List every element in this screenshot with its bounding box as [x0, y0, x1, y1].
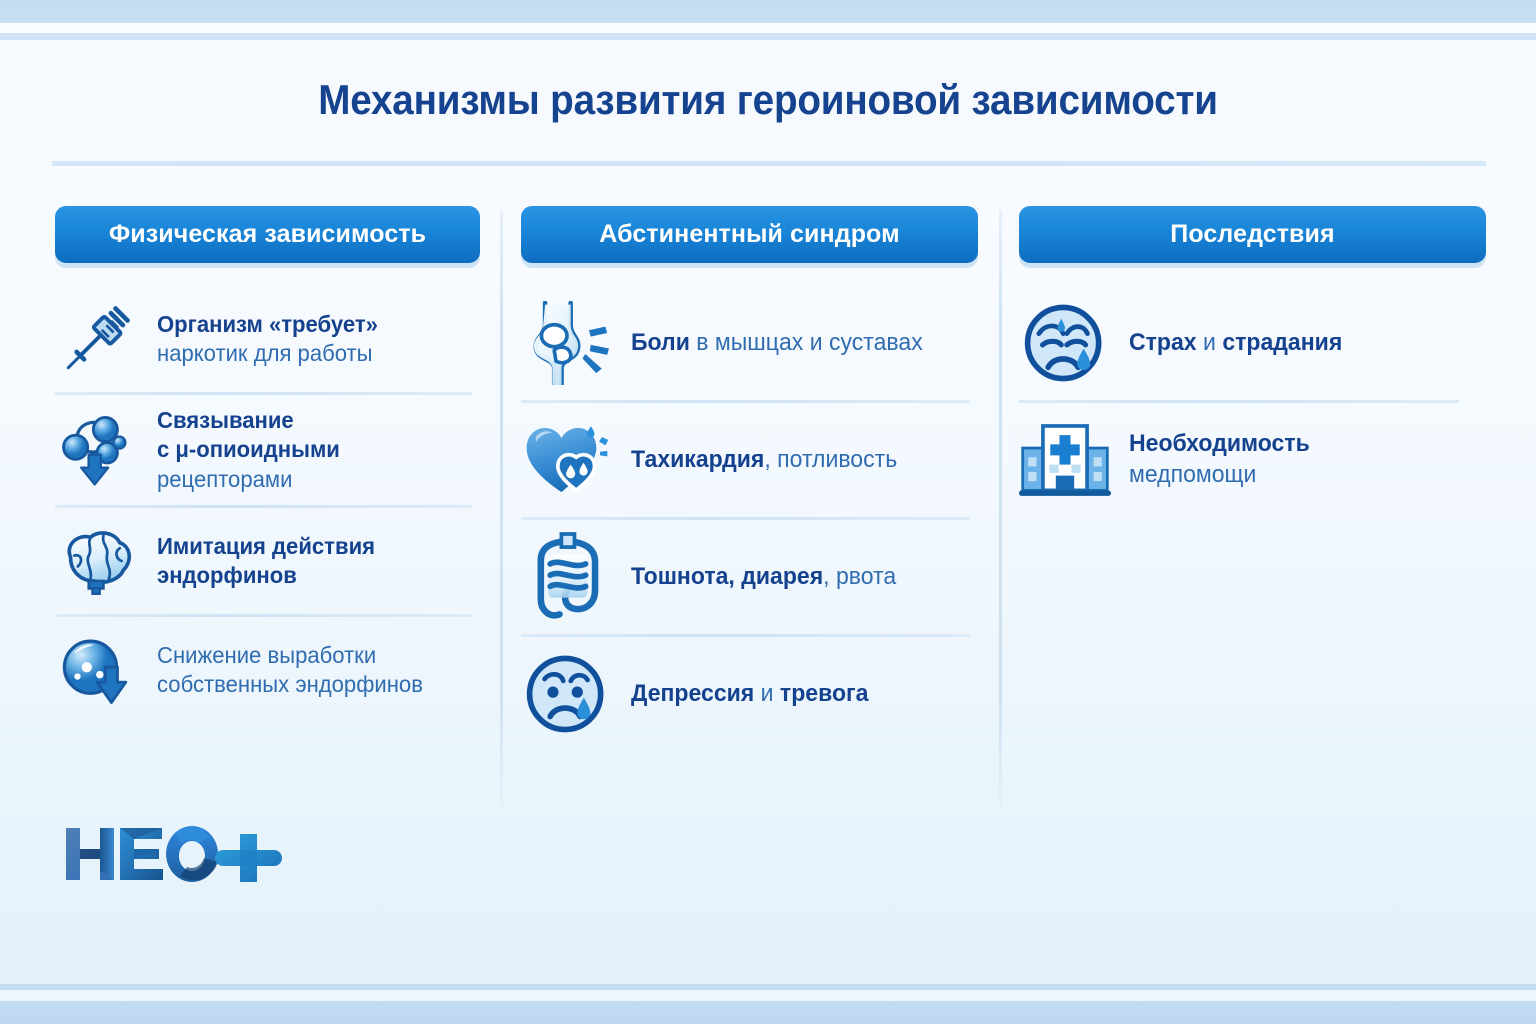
column-header-consequences[interactable]: Последствия: [1019, 206, 1486, 263]
title-divider-rule: [52, 161, 1486, 166]
column-items-consequences: Страх и страдания Необходимостьмедпомощи: [1019, 286, 1486, 517]
list-item-label: Необходимостьмедпомощи: [1129, 429, 1310, 490]
worried-face-tear-icon: [1019, 297, 1111, 389]
list-item-label: Тошнота, диарея, рвота: [631, 562, 896, 593]
list-item[interactable]: Страх и страдания: [1019, 286, 1486, 400]
list-item[interactable]: Снижение выработкисобственных эндорфинов: [55, 617, 480, 723]
syringe-icon: [55, 297, 139, 381]
list-item-label: Снижение выработкисобственных эндорфинов: [157, 641, 423, 700]
column-withdrawal-syndrome: Абстинентный синдром Боли в мышцах и сус…: [521, 206, 978, 751]
top-band-gap: [0, 23, 1536, 33]
top-accent-line: [0, 33, 1536, 40]
list-item[interactable]: Связываниес μ-опиоиднымирецепторами: [55, 395, 480, 505]
list-item-label: Боли в мышцах и суставах: [631, 328, 923, 359]
list-item[interactable]: Депрессия и тревога: [521, 637, 978, 751]
endorphin-decrease-icon: [55, 628, 139, 712]
intestines-icon: [521, 531, 613, 623]
list-item-label: Депрессия и тревога: [631, 679, 868, 710]
bottom-decorative-band: [0, 1001, 1536, 1024]
list-item[interactable]: Необходимостьмедпомощи: [1019, 403, 1486, 517]
column-physical-dependence: Физическая зависимость Организм «требует…: [55, 206, 480, 723]
list-item-label: Имитация действияэндорфинов: [157, 532, 375, 591]
list-item-label: Организм «требует»наркотик для работы: [157, 310, 378, 369]
bottom-band-gap: [0, 990, 1536, 1001]
heart-sweat-icon: [521, 414, 613, 506]
neo-plus-logo-icon: [62, 822, 292, 892]
brain-icon: [55, 519, 139, 603]
column-items-physical-dependence: Организм «требует»наркотик для работы Св…: [55, 286, 480, 723]
list-item-label: Страх и страдания: [1129, 328, 1342, 359]
column-items-withdrawal-syndrome: Боли в мышцах и суставах Тахикардия, пот…: [521, 286, 978, 751]
list-item[interactable]: Организм «требует»наркотик для работы: [55, 286, 480, 392]
brand-logo[interactable]: [62, 822, 292, 892]
page-title: Механизмы развития героиновой зависимост…: [61, 76, 1474, 124]
list-item[interactable]: Тошнота, диарея, рвота: [521, 520, 978, 634]
list-item[interactable]: Боли в мышцах и суставах: [521, 286, 978, 400]
list-item-label: Тахикардия, потливость: [631, 445, 897, 476]
column-divider-2: [999, 210, 1002, 806]
list-item[interactable]: Тахикардия, потливость: [521, 403, 978, 517]
columns-container: Физическая зависимость Организм «требует…: [0, 206, 1536, 826]
hospital-icon: [1019, 414, 1111, 506]
column-divider-1: [500, 210, 503, 806]
knee-joint-pain-icon: [521, 297, 613, 389]
sad-face-tear-icon: [521, 648, 613, 740]
list-item[interactable]: Имитация действияэндорфинов: [55, 508, 480, 614]
column-consequences: Последствия Страх и страдания Необходимо…: [1019, 206, 1486, 517]
list-item-label: Связываниес μ-опиоиднымирецепторами: [157, 406, 340, 494]
column-header-physical-dependence[interactable]: Физическая зависимость: [55, 206, 480, 263]
top-decorative-band: [0, 0, 1536, 23]
column-header-withdrawal-syndrome[interactable]: Абстинентный синдром: [521, 206, 978, 263]
molecule-receptor-icon: [55, 408, 139, 492]
